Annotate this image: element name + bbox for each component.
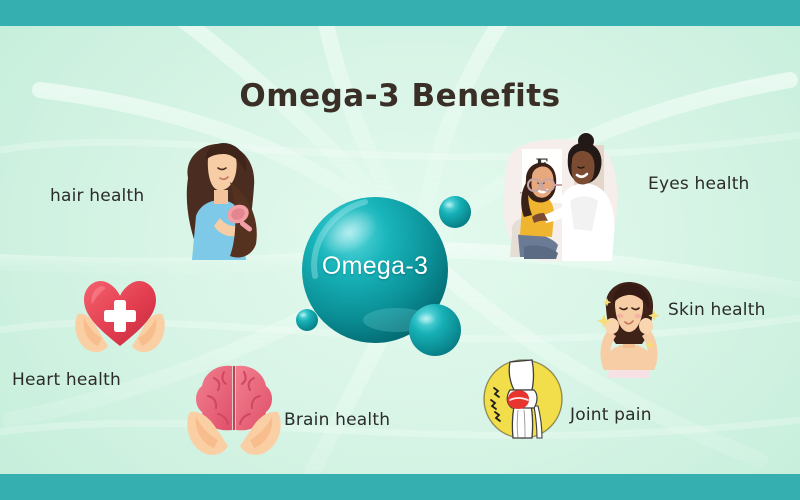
benefit-label-eyes-health: Eyes health bbox=[648, 174, 750, 194]
page-title: Omega-3 Benefits bbox=[0, 78, 800, 114]
omega3-bubble-cluster: Omega-3 bbox=[285, 180, 485, 360]
benefit-label-heart-health: Heart health bbox=[12, 370, 121, 390]
brain-in-hands-icon bbox=[186, 358, 282, 458]
bottom-band bbox=[0, 474, 800, 500]
benefit-label-hair-health: hair health bbox=[50, 186, 144, 206]
top-band bbox=[0, 0, 800, 26]
satellite-bubble-2-icon bbox=[296, 309, 318, 331]
woman-brushing-hair-icon bbox=[168, 138, 266, 263]
eye-exam-icon: E F P T O Z bbox=[500, 135, 624, 263]
satellite-bubble-1-icon bbox=[439, 196, 471, 228]
knee-joint-pain-icon bbox=[480, 356, 566, 442]
center-bubble-label: Omega-3 bbox=[285, 252, 465, 281]
satellite-bubble-3-icon bbox=[409, 304, 461, 356]
benefit-label-skin-health: Skin health bbox=[668, 300, 766, 320]
woman-face-care-icon bbox=[588, 278, 670, 378]
omega3-benefits-infographic: Omega-3 Benefits bbox=[0, 0, 800, 500]
benefit-label-joint-pain: Joint pain bbox=[570, 405, 652, 425]
heart-in-hands-icon bbox=[72, 272, 168, 358]
benefit-label-brain-health: Brain health bbox=[284, 410, 390, 430]
